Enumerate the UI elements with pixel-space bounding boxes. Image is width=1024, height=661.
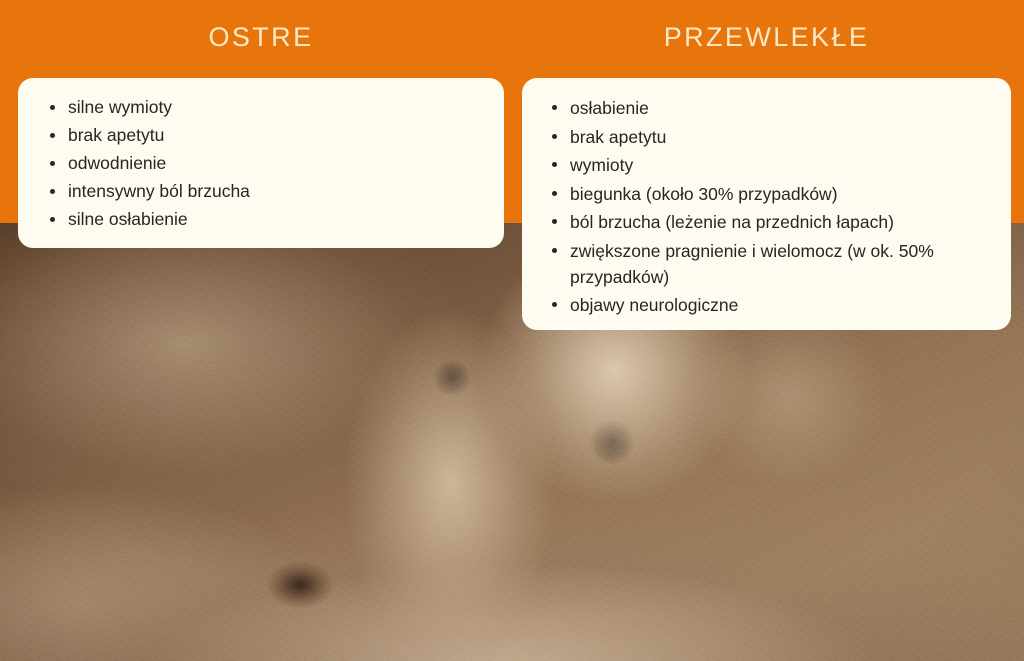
list-item: silne wymioty — [42, 95, 480, 121]
list-item: wymioty — [544, 152, 989, 178]
acute-symptoms-list: silne wymioty brak apetytu odwodnienie i… — [42, 95, 480, 233]
list-item: brak apetytu — [544, 124, 989, 150]
list-item: biegunka (około 30% przypadków) — [544, 181, 989, 207]
column-title-chronic: PRZEWLEKŁE — [522, 22, 1011, 53]
list-item: osłabienie — [544, 95, 989, 121]
list-item: intensywny ból brzucha — [42, 179, 480, 205]
list-item: objawy neurologiczne — [544, 292, 989, 318]
infographic-canvas: OSTRE PRZEWLEKŁE silne wymioty brak apet… — [0, 0, 1024, 661]
column-title-acute: OSTRE — [18, 22, 504, 53]
acute-symptoms-card: silne wymioty brak apetytu odwodnienie i… — [18, 78, 504, 248]
list-item: odwodnienie — [42, 151, 480, 177]
list-item: brak apetytu — [42, 123, 480, 149]
chronic-symptoms-card: osłabienie brak apetytu wymioty biegunka… — [522, 78, 1011, 330]
list-item: silne osłabienie — [42, 207, 480, 233]
list-item: zwiększone pragnienie i wielomocz (w ok.… — [544, 238, 989, 290]
list-item: ból brzucha (leżenie na przednich łapach… — [544, 209, 989, 235]
chronic-symptoms-list: osłabienie brak apetytu wymioty biegunka… — [544, 95, 989, 318]
